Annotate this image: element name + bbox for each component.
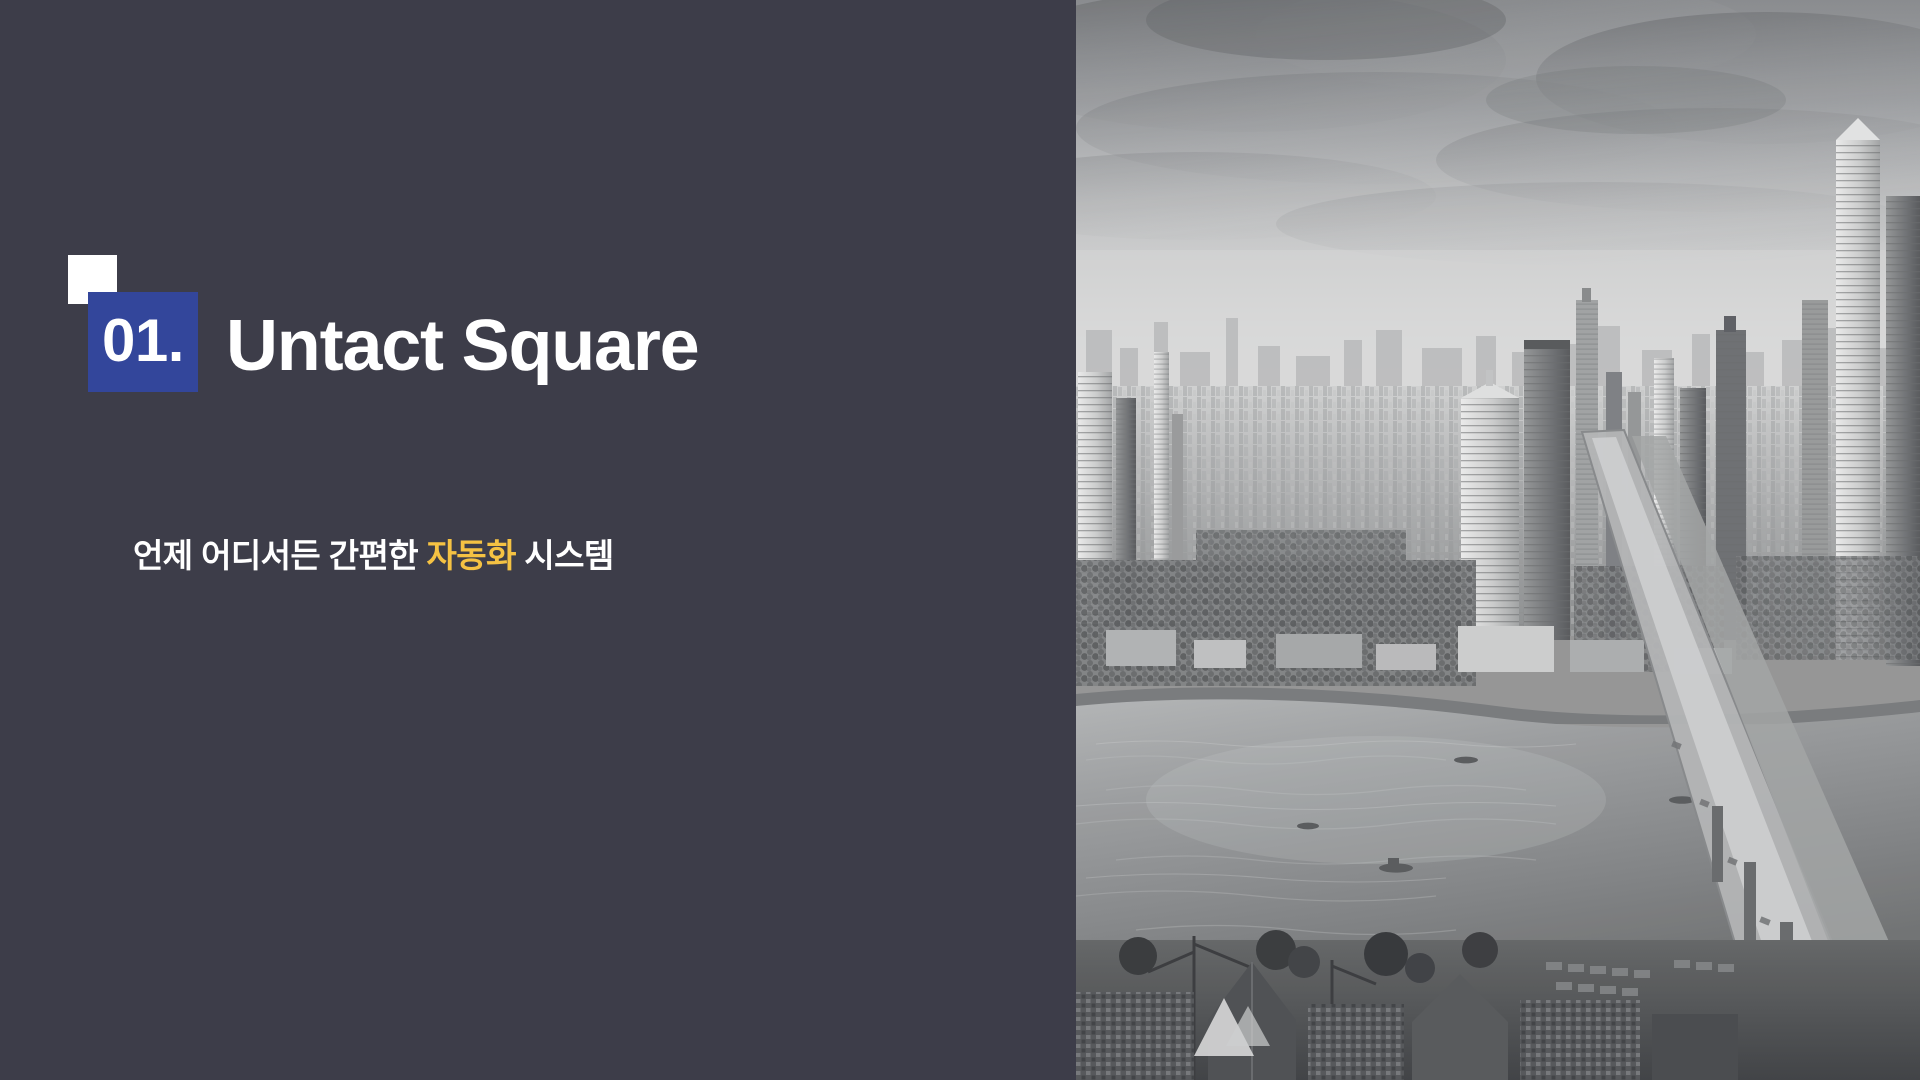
subtitle-text-before: 언제 어디서든 간편한 <box>133 537 427 574</box>
section-number-label: 01. <box>102 311 184 373</box>
cityscape-photo <box>1076 0 1920 1080</box>
section-number-chip: 01. <box>88 292 198 392</box>
subtitle-highlight-text: 자동화 <box>427 537 516 574</box>
page-title: Untact Square <box>226 300 699 392</box>
subtitle-line: 언제 어디서든 간편한 자동화 시스템 <box>133 534 614 579</box>
presentation-slide: 01. Untact Square 언제 어디서든 간편한 자동화 시스템 <box>0 0 1920 1080</box>
left-content-panel: 01. Untact Square 언제 어디서든 간편한 자동화 시스템 <box>0 0 1076 1080</box>
cityscape-photo-graphic <box>1076 0 1920 1080</box>
subtitle-text-after: 시스템 <box>516 537 614 574</box>
